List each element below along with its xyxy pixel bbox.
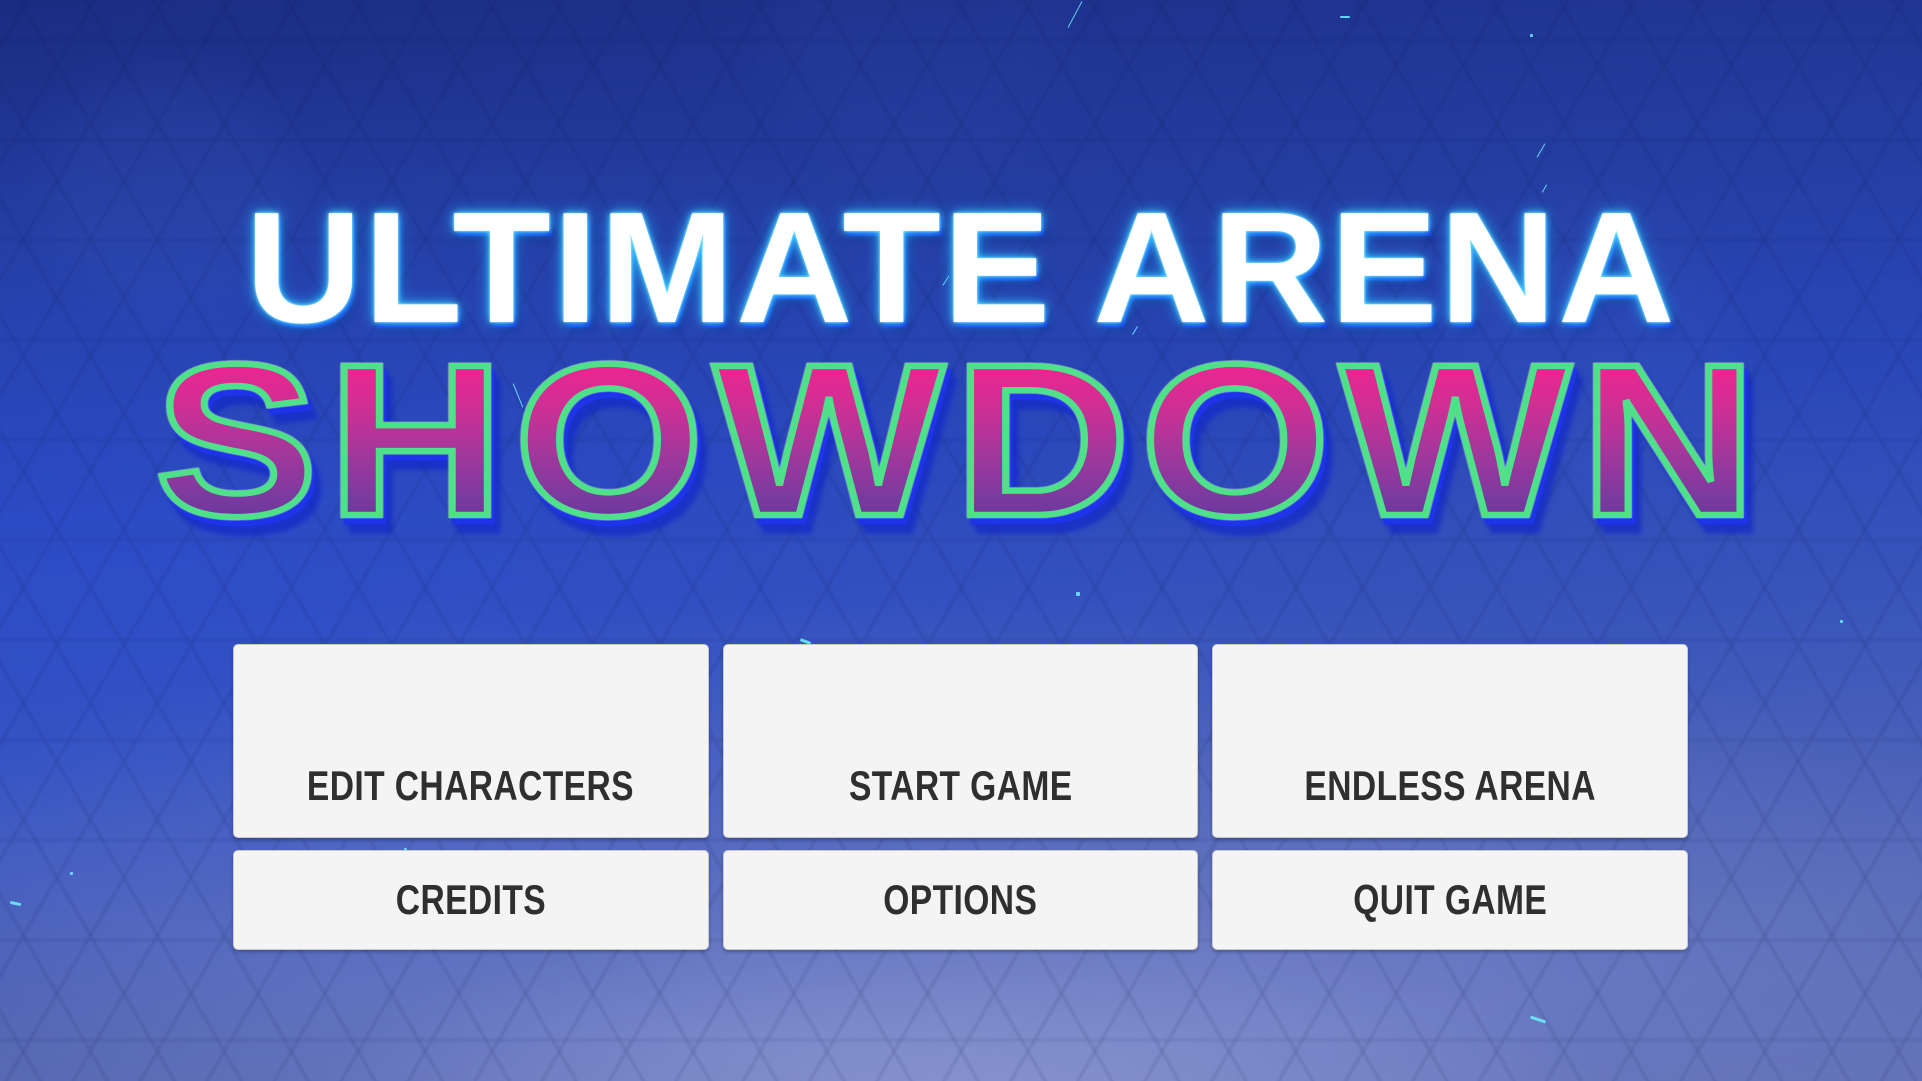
game-main-menu-screen: ULTIMATE ARENA SHOWDOWN EDIT CHARACTERS … xyxy=(0,0,1922,1081)
menu-button-start-game[interactable]: START GAME xyxy=(723,644,1199,838)
background-spark xyxy=(1050,486,1053,489)
menu-button-label: EDIT CHARACTERS xyxy=(307,765,634,837)
main-menu-button-grid: EDIT CHARACTERS START GAME ENDLESS ARENA… xyxy=(233,644,1688,950)
background-spark xyxy=(1076,592,1080,596)
menu-button-label: QUIT GAME xyxy=(1353,879,1547,921)
background-spark xyxy=(1530,34,1533,37)
menu-button-label: OPTIONS xyxy=(883,879,1037,921)
background-spark xyxy=(1840,620,1843,623)
background-spark xyxy=(70,872,73,875)
menu-button-options[interactable]: OPTIONS xyxy=(723,850,1199,950)
menu-button-credits[interactable]: CREDITS xyxy=(233,850,709,950)
menu-button-endless-arena[interactable]: ENDLESS ARENA xyxy=(1212,644,1688,838)
menu-button-label: CREDITS xyxy=(396,879,546,921)
menu-button-quit-game[interactable]: QUIT GAME xyxy=(1212,850,1688,950)
menu-button-edit-characters[interactable]: EDIT CHARACTERS xyxy=(233,644,709,838)
menu-button-label: START GAME xyxy=(849,765,1073,837)
background-spark xyxy=(1340,16,1350,18)
menu-button-label: ENDLESS ARENA xyxy=(1304,765,1595,837)
